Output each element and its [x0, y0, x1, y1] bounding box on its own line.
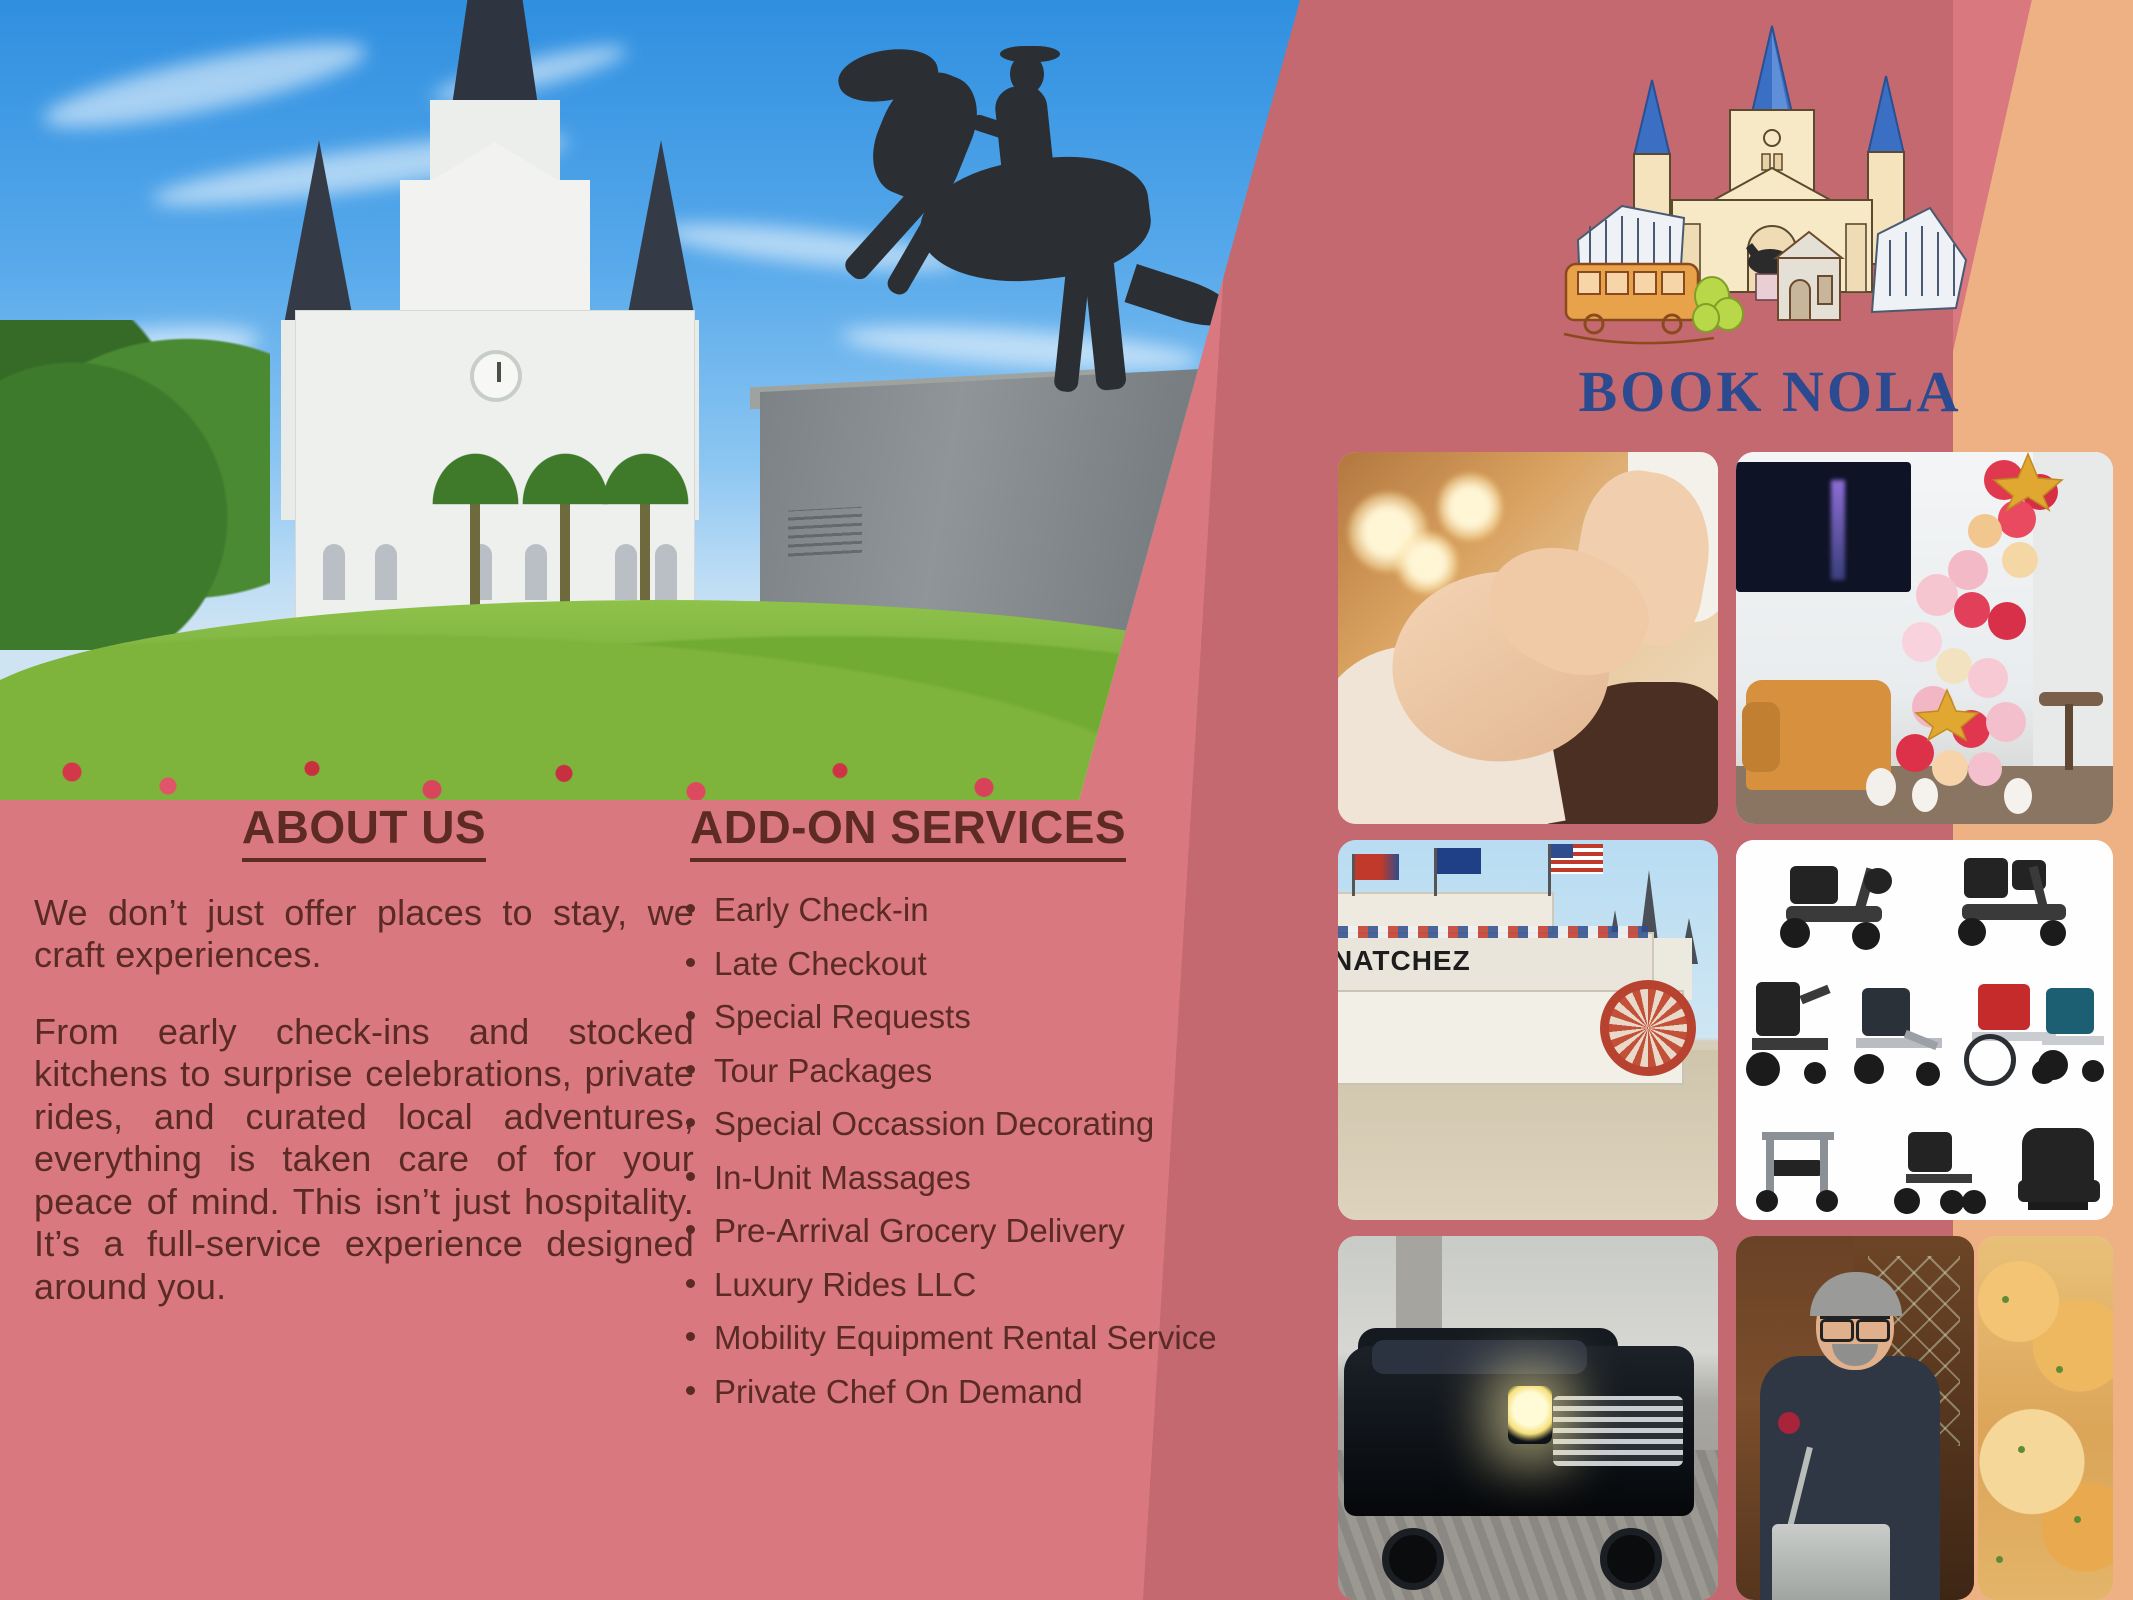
- flag: [1355, 854, 1399, 880]
- palm-tree: [560, 470, 570, 620]
- candle-bokeh: [1438, 472, 1502, 542]
- wall-tv: [1736, 462, 1911, 592]
- suv-windshield: [1372, 1340, 1587, 1374]
- cathedral-clock: [470, 350, 522, 402]
- chef-badge: [1778, 1412, 1800, 1434]
- brand-logo[interactable]: BOOK NOLA: [1560, 18, 1980, 428]
- st-louis-cathedral: [215, 20, 775, 640]
- photo-gallery-grid: NATCHEZ: [1338, 452, 2113, 1600]
- suv-headlight: [1508, 1386, 1552, 1444]
- list-item: Special Occassion Decorating: [680, 1102, 1240, 1146]
- gourmet-food-photo: [1978, 1236, 2113, 1600]
- side-table: [2039, 692, 2103, 706]
- list-item: Late Checkout: [680, 942, 1240, 986]
- about-paragraph-2: From early check-ins and stocked kitchen…: [34, 1011, 694, 1308]
- horse-rear-leg: [1083, 254, 1127, 391]
- gold-star-icon: [1988, 452, 2068, 512]
- list-item: Early Check-in: [680, 888, 1240, 932]
- cathedral-streetcar-logo-icon: [1560, 18, 1980, 368]
- gold-star-icon: [1912, 688, 1982, 742]
- about-title-wrap: ABOUT US: [34, 800, 694, 862]
- about-us-section: ABOUT US We don’t just offer places to s…: [34, 800, 694, 1308]
- cathedral-window: [375, 544, 397, 600]
- stock-pot: [1772, 1524, 1890, 1600]
- rider-hat: [1000, 46, 1060, 62]
- boat-bunting: [1338, 926, 1648, 938]
- cathedral-window: [615, 544, 637, 600]
- hero-photo-jackson-square: [0, 0, 1300, 800]
- about-us-body: We don’t just offer places to stay, we c…: [34, 892, 694, 1308]
- luxury-suv-photo: [1338, 1236, 1718, 1600]
- list-item: Pre-Arrival Grocery Delivery: [680, 1209, 1240, 1253]
- flower-bed: [0, 730, 1200, 800]
- services-title-wrap: ADD-ON SERVICES: [680, 800, 1240, 862]
- power-wheelchair: [1742, 982, 1846, 1094]
- mobility-equipment-photo: [1736, 840, 2113, 1220]
- suv-tire: [1382, 1528, 1444, 1590]
- andrew-jackson-statue: [760, 0, 1260, 400]
- mobility-scooter: [1772, 860, 1902, 960]
- louisiana-flag: [1437, 848, 1481, 874]
- knee-walker: [1886, 1132, 1994, 1220]
- palm-tree: [640, 470, 650, 620]
- palm-tree: [470, 470, 480, 620]
- private-chef-photo: [1736, 1236, 1974, 1600]
- transport-wheelchair: [1846, 988, 1958, 1096]
- spa-massage-photo: [1338, 452, 1718, 824]
- suv-tire: [1600, 1528, 1662, 1590]
- list-item: In-Unit Massages: [680, 1156, 1240, 1200]
- paddle-wheel: [1600, 980, 1696, 1076]
- mobility-scooter: [1954, 856, 2086, 960]
- cathedral-window: [655, 544, 677, 600]
- brochure-page: BOOK NOLA ABOUT US We don’t just offer p…: [0, 0, 2133, 1600]
- list-item: Luxury Rides LLC: [680, 1263, 1240, 1307]
- list-item: Private Chef On Demand: [680, 1370, 1240, 1414]
- pedestal-inscription: [788, 507, 862, 557]
- eyeglasses-icon: [1820, 1316, 1890, 1334]
- steamboat-natchez-photo: NATCHEZ: [1338, 840, 1718, 1220]
- cathedral-window: [525, 544, 547, 600]
- services-list: Early Check-in Late Checkout Special Req…: [680, 888, 1240, 1413]
- list-item: Special Requests: [680, 995, 1240, 1039]
- usa-flag: [1551, 844, 1603, 874]
- boat-name-text: NATCHEZ: [1338, 945, 1471, 977]
- blue-wheelchair: [2036, 988, 2112, 1094]
- about-paragraph-1: We don’t just offer places to stay, we c…: [34, 892, 694, 977]
- balloon-decoration-photo: [1736, 452, 2113, 824]
- horse-rear-leg: [1053, 261, 1090, 393]
- about-us-heading: ABOUT US: [242, 800, 486, 862]
- add-on-services-heading: ADD-ON SERVICES: [690, 800, 1126, 862]
- lift-recliner-chair: [2014, 1128, 2110, 1220]
- add-on-services-section: ADD-ON SERVICES Early Check-in Late Chec…: [680, 800, 1240, 1423]
- list-item: Mobility Equipment Rental Service: [680, 1316, 1240, 1360]
- cathedral-window: [323, 544, 345, 600]
- suv-grille: [1553, 1396, 1683, 1466]
- brand-name: BOOK NOLA: [1560, 358, 1980, 425]
- list-item: Tour Packages: [680, 1049, 1240, 1093]
- rollator-walker: [1750, 1132, 1860, 1218]
